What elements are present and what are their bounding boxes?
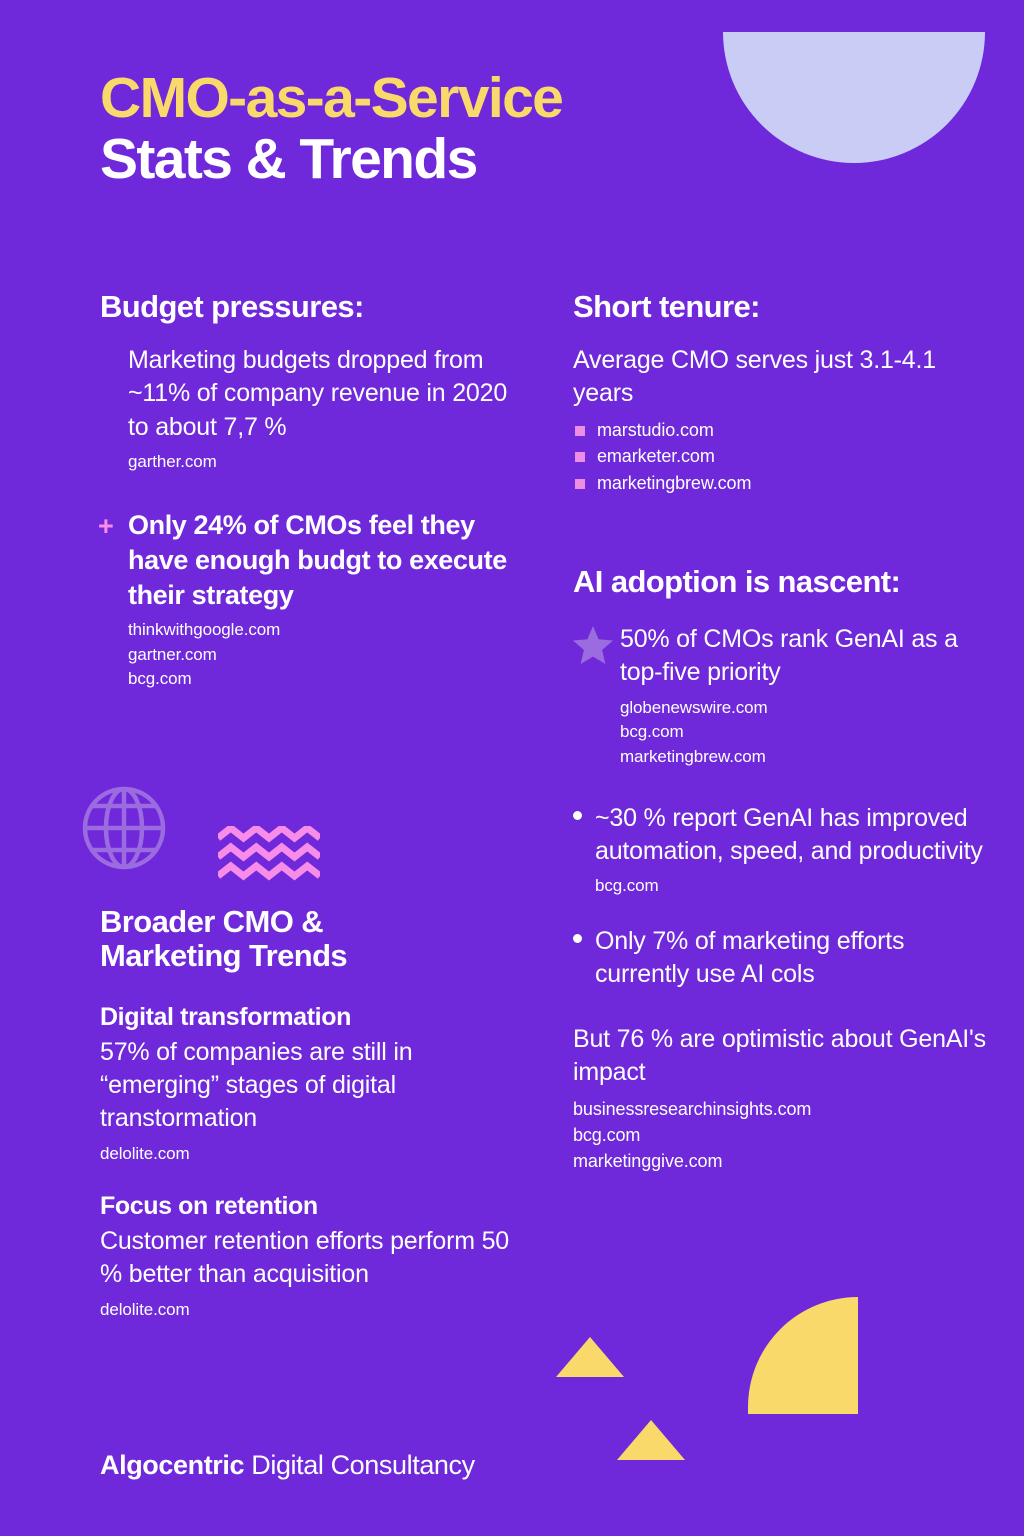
source-item: businessresearchinsights.com (573, 1096, 993, 1122)
source-item: marstudio.com (573, 417, 993, 443)
infographic-poster: CMO-as-a-Service Stats & Trends Budget p… (0, 0, 1024, 1536)
source-item: marketingbrew.com (620, 745, 993, 770)
focus-retention-text: Customer retention efforts perform 50 % … (100, 1225, 520, 1292)
ai-stat-4-text: But 76 % are optimistic about GenAI's im… (573, 1023, 993, 1090)
source-item: bcg.com (595, 874, 993, 899)
broader-sub-2: Focus on retention Customer retention ef… (100, 1192, 520, 1322)
focus-retention-sources: delolite.com (100, 1298, 520, 1323)
broader-heading: Broader CMO & Marketing Trends (100, 905, 520, 973)
section-broader-trends: Broader CMO & Marketing Trends Digital t… (100, 905, 520, 1322)
source-item: bcg.com (128, 667, 520, 692)
ai-stat-1-text: 50% of CMOs rank GenAI as a top-five pri… (620, 623, 993, 690)
tenure-stat-text: Average CMO serves just 3.1-4.1 years (573, 344, 993, 411)
source-item: delolite.com (100, 1142, 520, 1167)
ai-stat-2-sources: bcg.com (595, 874, 993, 899)
ai-stat-1: 50% of CMOs rank GenAI as a top-five pri… (620, 623, 993, 769)
broader-heading-line-2: Marketing Trends (100, 938, 347, 973)
source-item: marketinggive.com (573, 1148, 993, 1174)
source-item: globenewswire.com (620, 696, 993, 721)
source-item: delolite.com (100, 1298, 520, 1323)
zigzag-icon (218, 826, 320, 886)
plus-icon: + (98, 513, 114, 540)
budget-stat-1: Marketing budgets dropped from ~11% of c… (128, 344, 520, 474)
globe-icon (82, 786, 166, 870)
budget-stat-2: + Only 24% of CMOs feel they have enough… (128, 508, 520, 692)
source-item: bcg.com (620, 720, 993, 745)
source-item: marketingbrew.com (573, 470, 993, 496)
footer-brand-name: Algocentric (100, 1450, 244, 1480)
ai-stat-4: But 76 % are optimistic about GenAI's im… (573, 1023, 993, 1174)
section-ai-adoption: AI adoption is nascent: 50% of CMOs rank… (573, 565, 993, 1174)
ai-stat-4-sources: businessresearchinsights.com bcg.com mar… (573, 1096, 993, 1174)
ai-heading: AI adoption is nascent: (573, 565, 993, 599)
tenure-sources: marstudio.com emarketer.com marketingbre… (573, 417, 993, 496)
page-title: CMO-as-a-Service Stats & Trends (100, 68, 800, 190)
tenure-heading: Short tenure: (573, 290, 993, 324)
triangle-shape-small-2 (617, 1420, 685, 1460)
broader-sub-1: Digital transformation 57% of companies … (100, 1003, 520, 1166)
source-item: bcg.com (573, 1122, 993, 1148)
quarter-circle-shape (748, 1297, 858, 1414)
budget-stat-1-text: Marketing budgets dropped from ~11% of c… (128, 344, 520, 444)
ai-stat-2: ~30 % report GenAI has improved automati… (595, 802, 993, 899)
budget-stat-2-text: Only 24% of CMOs feel they have enough b… (128, 508, 520, 612)
source-item: garther.com (128, 450, 520, 475)
ai-stat-3: Only 7% of marketing efforts currently u… (595, 925, 993, 992)
bullet-dot-icon (573, 934, 582, 943)
ai-stat-3-text: Only 7% of marketing efforts currently u… (595, 925, 993, 992)
source-item: gartner.com (128, 643, 520, 668)
budget-stat-2-sources: thinkwithgoogle.com gartner.com bcg.com (128, 618, 520, 692)
section-budget-pressures: Budget pressures: Marketing budgets drop… (100, 290, 520, 692)
source-item: emarketer.com (573, 443, 993, 469)
footer-tagline: Digital Consultancy (244, 1450, 475, 1480)
source-item: thinkwithgoogle.com (128, 618, 520, 643)
digital-transformation-head: Digital transformation (100, 1003, 520, 1032)
broader-heading-line-1: Broader CMO & (100, 904, 323, 939)
digital-transformation-text: 57% of companies are still in “emerging”… (100, 1036, 520, 1136)
budget-heading: Budget pressures: (100, 290, 520, 324)
ai-stat-2-text: ~30 % report GenAI has improved automati… (595, 802, 993, 869)
section-short-tenure: Short tenure: Average CMO serves just 3.… (573, 290, 993, 496)
star-icon (573, 625, 613, 665)
bullet-dot-icon (573, 811, 582, 820)
title-line-2: Stats & Trends (100, 129, 800, 190)
footer-brand: Algocentric Digital Consultancy (100, 1450, 475, 1481)
digital-transformation-sources: delolite.com (100, 1142, 520, 1167)
ai-stat-1-sources: globenewswire.com bcg.com marketingbrew.… (620, 696, 993, 770)
title-line-1: CMO-as-a-Service (100, 68, 800, 129)
focus-retention-head: Focus on retention (100, 1192, 520, 1221)
budget-stat-1-sources: garther.com (128, 450, 520, 475)
triangle-shape-small (556, 1337, 624, 1377)
